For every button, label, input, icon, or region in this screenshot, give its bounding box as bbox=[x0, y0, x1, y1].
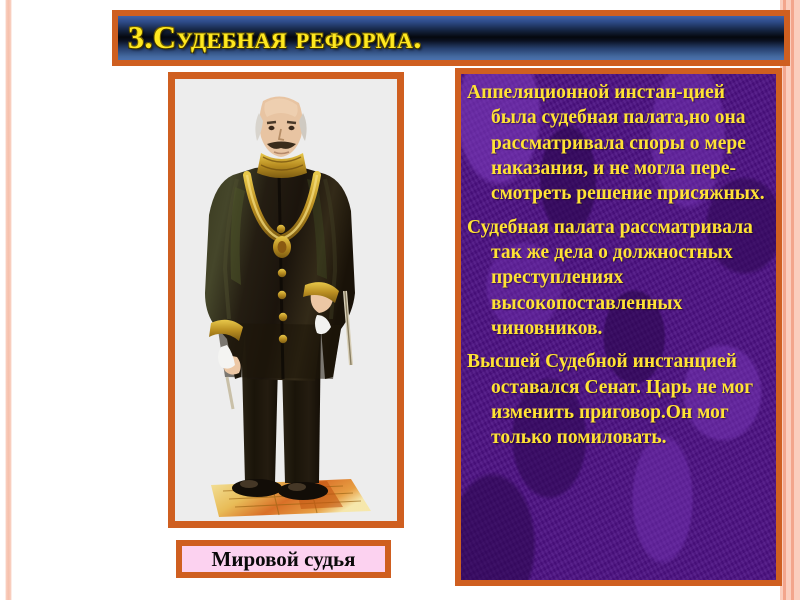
panel-body: Аппеляционной инстан-цией была судебная … bbox=[461, 74, 776, 451]
picture-caption-box: Мировой судья bbox=[176, 540, 391, 578]
content-paragraph-3: Высшей Судебной инстанцией оставался Сен… bbox=[467, 349, 766, 450]
content-text-panel: Аппеляционной инстан-цией была судебная … bbox=[455, 68, 782, 586]
right-edge-stripe-outer bbox=[783, 0, 786, 600]
mirovoy-sudya-illustration bbox=[175, 79, 397, 521]
page-title: 3.Судебная реформа. bbox=[128, 19, 422, 56]
left-edge-stripe bbox=[5, 0, 12, 600]
content-paragraph-2: Судебная палата рассматривала так же дел… bbox=[467, 215, 766, 342]
slide-canvas: 3.Судебная реформа. bbox=[0, 0, 800, 600]
content-paragraph-1: Аппеляционной инстан-цией была судебная … bbox=[467, 80, 766, 207]
slide-title-bar: 3.Судебная реформа. bbox=[112, 10, 790, 66]
judge-picture-frame bbox=[168, 72, 404, 528]
judge-figure-svg bbox=[175, 79, 397, 521]
right-edge-stripe-inner bbox=[791, 0, 794, 600]
picture-caption-text: Мировой судья bbox=[212, 547, 356, 572]
